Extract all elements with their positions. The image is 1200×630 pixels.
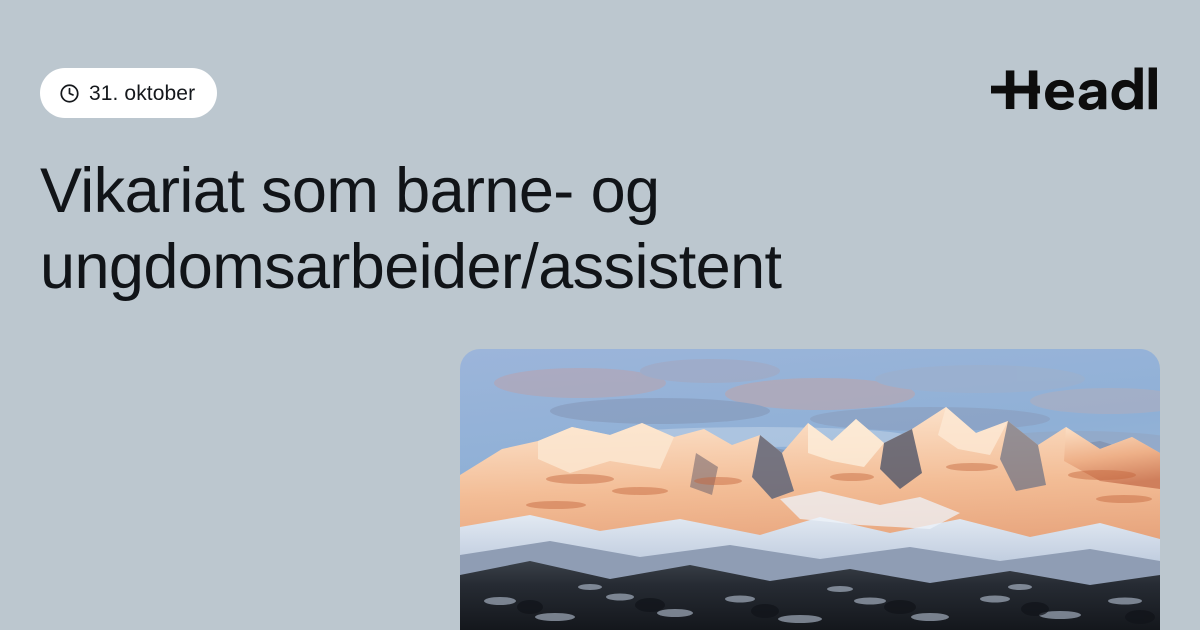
headly-wordmark-icon (991, 66, 1160, 112)
hero-image (460, 349, 1160, 630)
page-title-line-1: Vikariat som barne- og (40, 153, 1040, 229)
date-badge: 31. oktober (40, 68, 217, 118)
page-title-line-2: ungdomsarbeider/assistent (40, 229, 1040, 305)
date-label: 31. oktober (89, 83, 195, 104)
mountain-sunset-illustration (460, 349, 1160, 630)
clock-icon (59, 83, 80, 104)
brand-logo[interactable] (991, 66, 1160, 112)
page-title: Vikariat som barne- og ungdomsarbeider/a… (40, 153, 1040, 305)
